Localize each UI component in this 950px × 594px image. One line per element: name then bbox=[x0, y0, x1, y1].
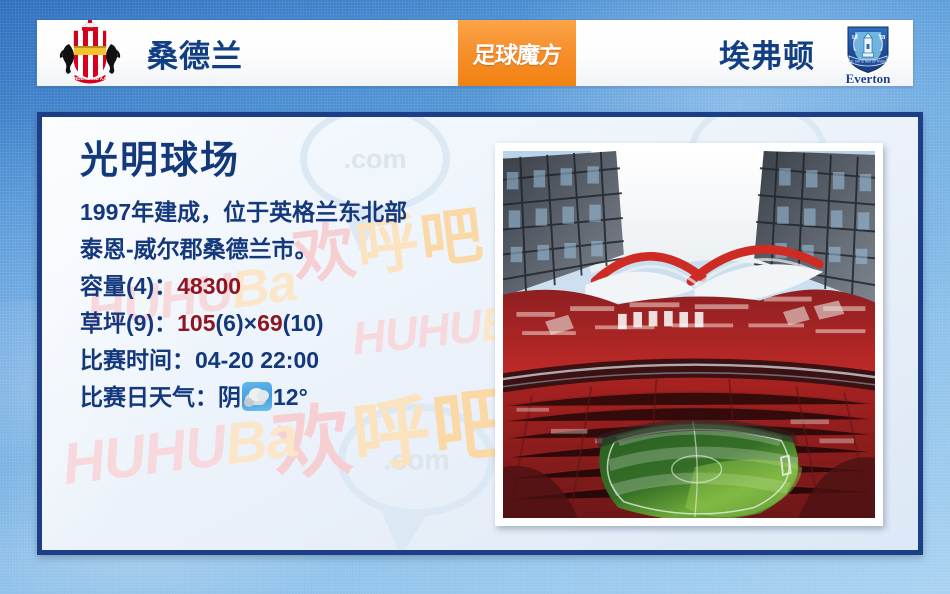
pitch-label: 草坪(9)： bbox=[80, 310, 177, 336]
stadium-capacity-row: 容量(4)：48300 bbox=[80, 268, 500, 305]
pitch-width-value: 69 bbox=[257, 310, 283, 336]
match-weather-row: 比赛日天气：阴12° bbox=[80, 379, 500, 416]
home-team-name: 桑德兰 bbox=[147, 31, 243, 76]
pitch-length-value: 105 bbox=[177, 310, 215, 336]
site-brand-text: 足球魔方 bbox=[472, 36, 562, 70]
watermark-bubble-bottom: .com bbox=[338, 403, 517, 555]
pitch-length-rank: (6) bbox=[216, 310, 244, 336]
everton-crest-motto: NIL SATIS NISI OPTIMUM bbox=[849, 60, 887, 64]
overcast-cloud-icon bbox=[242, 382, 272, 411]
stadium-info-text: 光明球场 1997年建成，位于英格兰东北部 泰恩-威尔郡桑德兰市。 容量(4)：… bbox=[80, 141, 500, 416]
pitch-width-rank: (10) bbox=[283, 310, 324, 336]
match-kickoff-row: 比赛时间：04-20 22:00 bbox=[80, 342, 500, 379]
site-brand-logo[interactable]: 足球魔方 bbox=[458, 20, 576, 86]
sunderland-crest-icon: SUNDERLAND A.F.C. bbox=[51, 20, 129, 86]
watermark-latin-3: HUHU bbox=[59, 413, 229, 497]
capacity-label: 容量(4)： bbox=[80, 273, 177, 299]
weather-label: 比赛日天气： bbox=[80, 384, 218, 410]
pitch-separator: × bbox=[244, 310, 257, 336]
away-team-name: 埃弗顿 bbox=[719, 31, 815, 76]
weather-temperature: 12° bbox=[273, 384, 308, 410]
everton-crest-year-left: 18 bbox=[851, 34, 858, 41]
weather-condition: 阴 bbox=[218, 384, 241, 410]
everton-crest-wordmark: Everton bbox=[846, 71, 892, 86]
match-stadium-card-page: SUNDERLAND A.F.C. 桑德兰 足球魔方 埃弗顿 bbox=[0, 0, 950, 594]
away-team-block[interactable]: 埃弗顿 bbox=[719, 20, 913, 86]
stadium-description-line-2: 泰恩-威尔郡桑德兰市。 bbox=[80, 231, 500, 268]
sunderland-crest-wordmark: SUNDERLAND A.F.C. bbox=[68, 76, 112, 81]
everton-crest-icon: 18 78 NIL SATIS NISI OPTIMUM Everton bbox=[829, 20, 907, 86]
kickoff-label: 比赛时间： bbox=[80, 347, 195, 373]
stadium-interior-photo bbox=[503, 151, 875, 518]
stadium-title: 光明球场 bbox=[80, 141, 500, 182]
stadium-description-line-1: 1997年建成，位于英格兰东北部 bbox=[80, 194, 500, 231]
watermark-brand-latin-lower: HUHUBa bbox=[59, 403, 301, 498]
watermark-bubble-text-3: .com bbox=[383, 444, 449, 477]
stadium-photo-frame[interactable] bbox=[495, 143, 883, 526]
everton-crest-year-right: 78 bbox=[879, 34, 886, 41]
kickoff-value: 04-20 22:00 bbox=[195, 347, 319, 373]
capacity-value: 48300 bbox=[177, 273, 241, 299]
stadium-info-card: .com .com .com 欢呼吧 欢呼吧 HUHUBa HUHUBa HUH… bbox=[37, 112, 923, 555]
stadium-pitch-row: 草坪(9)：105(6)×69(10) bbox=[80, 305, 500, 342]
match-header-bar: SUNDERLAND A.F.C. 桑德兰 足球魔方 埃弗顿 bbox=[37, 20, 913, 86]
home-team-block[interactable]: SUNDERLAND A.F.C. 桑德兰 bbox=[37, 20, 243, 86]
